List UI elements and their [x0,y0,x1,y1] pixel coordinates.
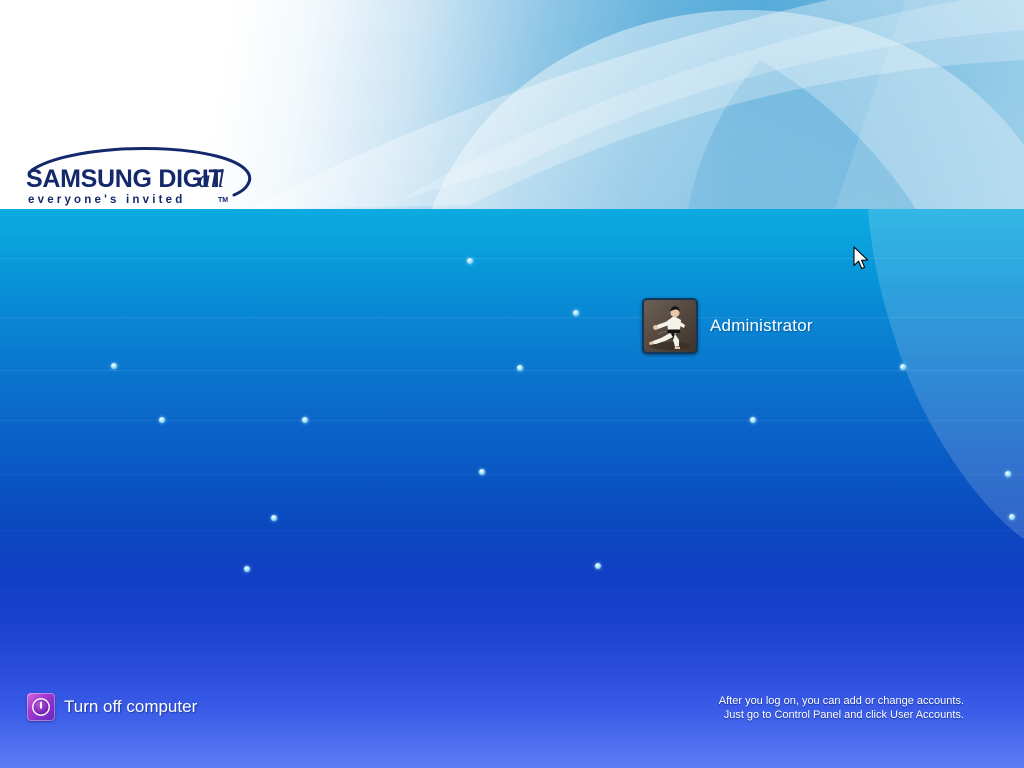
background-scanline [0,530,1024,531]
account-hint-text: After you log on, you can add or change … [719,694,964,722]
background-dot [159,417,165,423]
background-dot [1009,514,1015,520]
samsung-digitall-logo: SAMSUNG DIGIT all everyone's invited TM [20,142,260,208]
background-dot [111,363,117,369]
turn-off-computer-button[interactable]: Turn off computer [27,693,197,721]
background-dot [479,469,485,475]
logo-trademark: TM [218,197,228,204]
background-scanline [0,258,1024,259]
turn-off-computer-label[interactable]: Turn off computer [64,697,197,717]
background-dot [244,566,250,572]
background-dot [467,258,473,264]
background-scanline [0,317,1024,318]
background-dot [517,365,523,371]
logo-wordmark: SAMSUNG DIGIT [26,165,224,193]
background-scanline [0,420,1024,421]
background-dot [573,310,579,316]
background-scanline [0,590,1024,591]
power-icon[interactable] [27,693,55,721]
logo-wordmark-italic: all [198,166,224,193]
user-account-administrator[interactable]: Administrator [642,298,813,354]
hint-line-1: After you log on, you can add or change … [719,694,964,708]
background-dot [900,364,906,370]
welcome-screen: SAMSUNG DIGIT all everyone's invited TM [0,0,1024,768]
hint-line-2: Just go to Control Panel and click User … [719,708,964,722]
logo-tagline: everyone's invited [28,194,186,206]
user-avatar-tile[interactable] [642,298,698,354]
background-ellipse-overlay [0,209,1024,768]
background-dot [1005,471,1011,477]
background-dot [595,563,601,569]
background-scanline [0,370,1024,371]
background-dot [750,417,756,423]
user-account-name[interactable]: Administrator [710,316,813,336]
background-dot [302,417,308,423]
karate-avatar [644,300,696,352]
background-dot [271,515,277,521]
background-scanline [0,474,1024,475]
